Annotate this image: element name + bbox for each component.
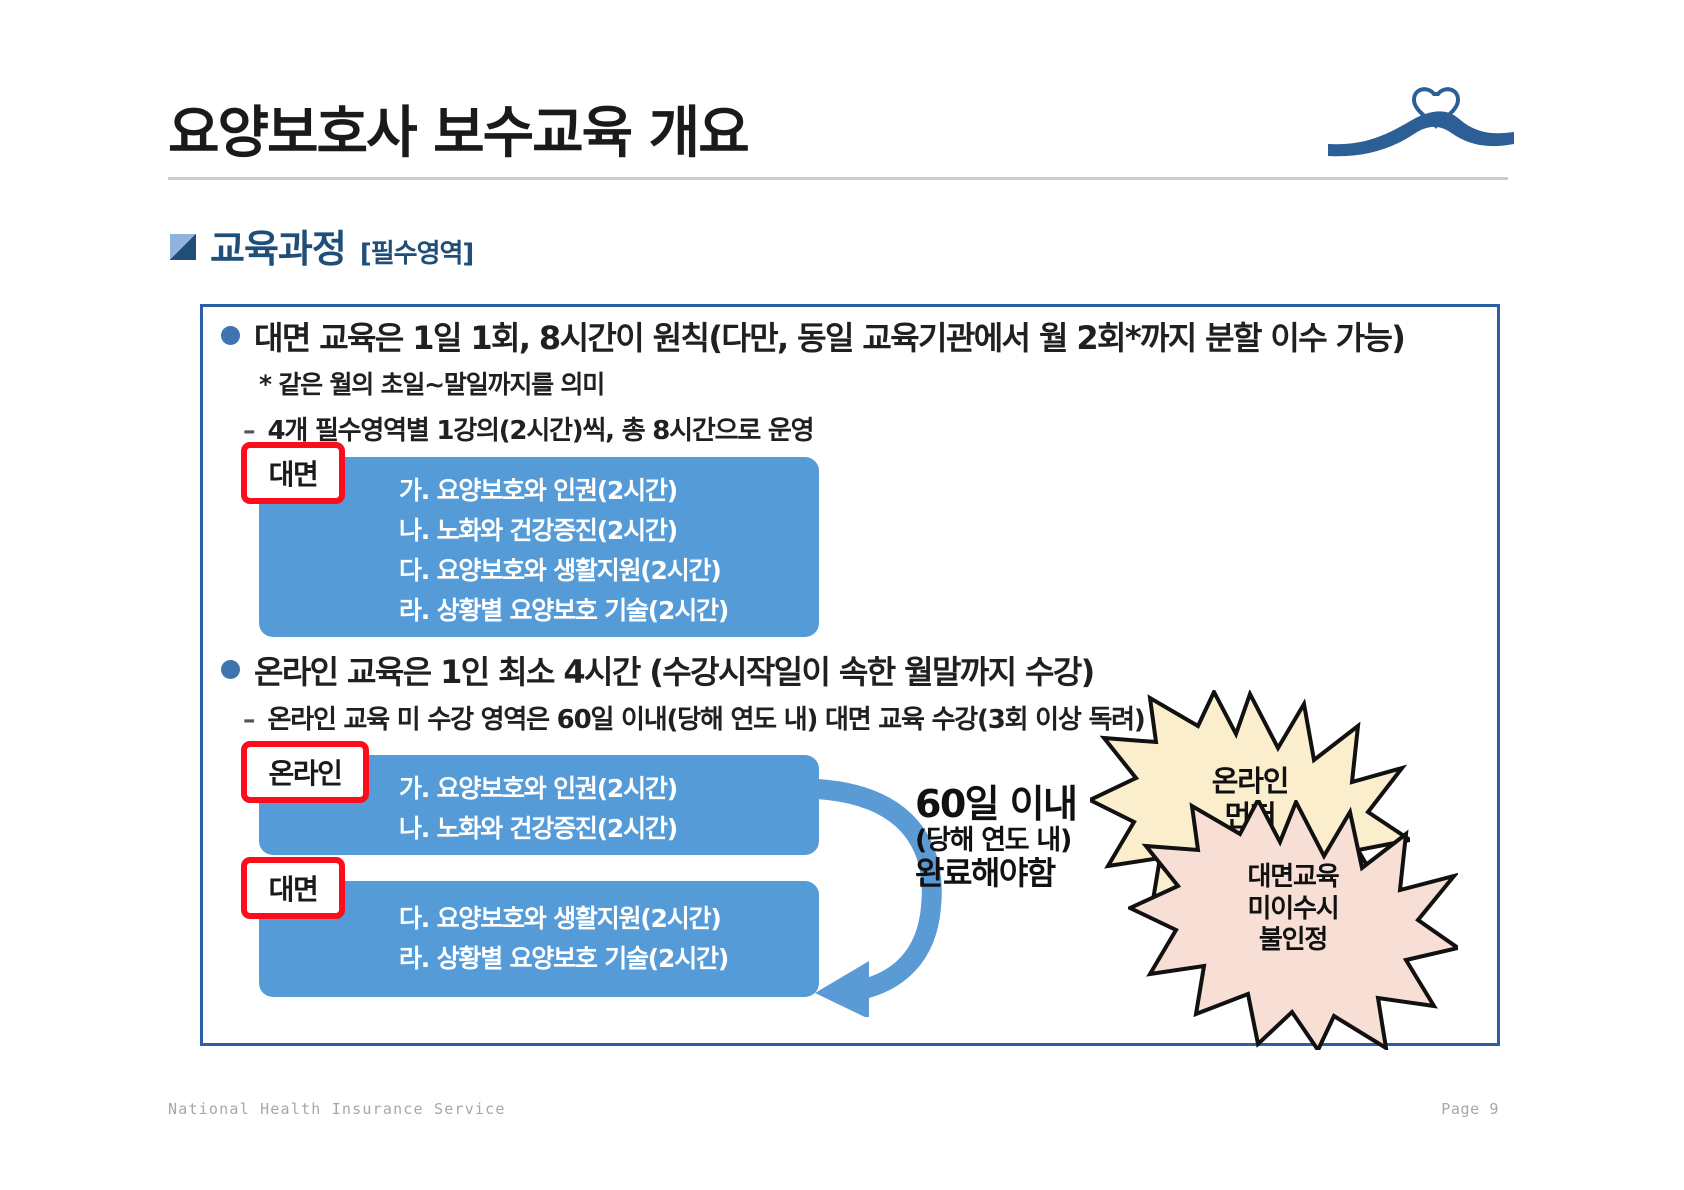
tag-online: 온라인: [241, 741, 369, 803]
section-subtitle: [필수영역]: [360, 233, 473, 270]
tag-offline: 대면: [241, 442, 345, 504]
title-divider: [168, 177, 1508, 180]
footer-page-number: Page 9: [1441, 1100, 1499, 1118]
bullet-item-offline-rule: 대면 교육은 1일 1회, 8시간이 원칙(다만, 동일 교육기관에서 월 2회…: [221, 313, 1404, 359]
course-item: 다. 요양보호와 생활지원(2시간): [399, 551, 721, 587]
heart-ribbon-logo-icon: [1326, 86, 1516, 164]
section-square-icon: [170, 234, 196, 260]
course-item: 라. 상황별 요양보호 기술(2시간): [399, 939, 728, 975]
bullet-dot-icon: [221, 660, 240, 679]
slide: 요양보호사 보수교육 개요 교육과정 [필수영역] 대면 교육은 1일 1회, …: [0, 0, 1684, 1190]
deadline-line-3: 완료해야함: [915, 856, 1076, 891]
deadline-line-1: 60일 이내: [915, 785, 1076, 825]
bullet-dot-icon: [221, 326, 240, 345]
footer-organization: National Health Insurance Service: [168, 1100, 506, 1118]
footnote-text: * 같은 월의 초일~말일까지를 의미: [259, 365, 604, 401]
dash-marker: –: [243, 705, 256, 734]
section-title: 교육과정: [210, 218, 346, 273]
bullet-text: 대면 교육은 1일 1회, 8시간이 원칙(다만, 동일 교육기관에서 월 2회…: [254, 313, 1404, 359]
starburst-pink-label: 대면교육 미이수시 불인정: [1188, 862, 1398, 957]
sub-bullet-text: 4개 필수영역별 1강의(2시간)씩, 총 8시간으로 운영: [268, 410, 814, 447]
deadline-annotation: 60일 이내 (당해 연도 내) 완료해야함: [915, 785, 1076, 891]
course-item: 다. 요양보호와 생활지원(2시간): [399, 899, 721, 935]
tag-offline-2: 대면: [241, 857, 345, 919]
course-item: 라. 상황별 요양보호 기술(2시간): [399, 591, 728, 627]
section-heading: 교육과정 [필수영역]: [170, 218, 473, 273]
deadline-line-2: (당해 연도 내): [915, 825, 1076, 856]
bullet-item-online-rule: 온라인 교육은 1인 최소 4시간 (수강시작일이 속한 월말까지 수강): [221, 647, 1094, 693]
course-item: 가. 요양보호와 인권(2시간): [399, 769, 677, 805]
dash-marker: –: [243, 416, 256, 445]
course-item: 가. 요양보호와 인권(2시간): [399, 471, 677, 507]
sub-bullet-text: 온라인 교육 미 수강 영역은 60일 이내(당해 연도 내) 대면 교육 수강…: [268, 699, 1145, 736]
page-title: 요양보호사 보수교육 개요: [168, 88, 748, 169]
course-item: 나. 노화와 건강증진(2시간): [399, 809, 677, 845]
bullet-text: 온라인 교육은 1인 최소 4시간 (수강시작일이 속한 월말까지 수강): [254, 647, 1094, 693]
sub-bullet-online-deadline: – 온라인 교육 미 수강 영역은 60일 이내(당해 연도 내) 대면 교육 …: [243, 699, 1145, 736]
course-item: 나. 노화와 건강증진(2시간): [399, 511, 677, 547]
